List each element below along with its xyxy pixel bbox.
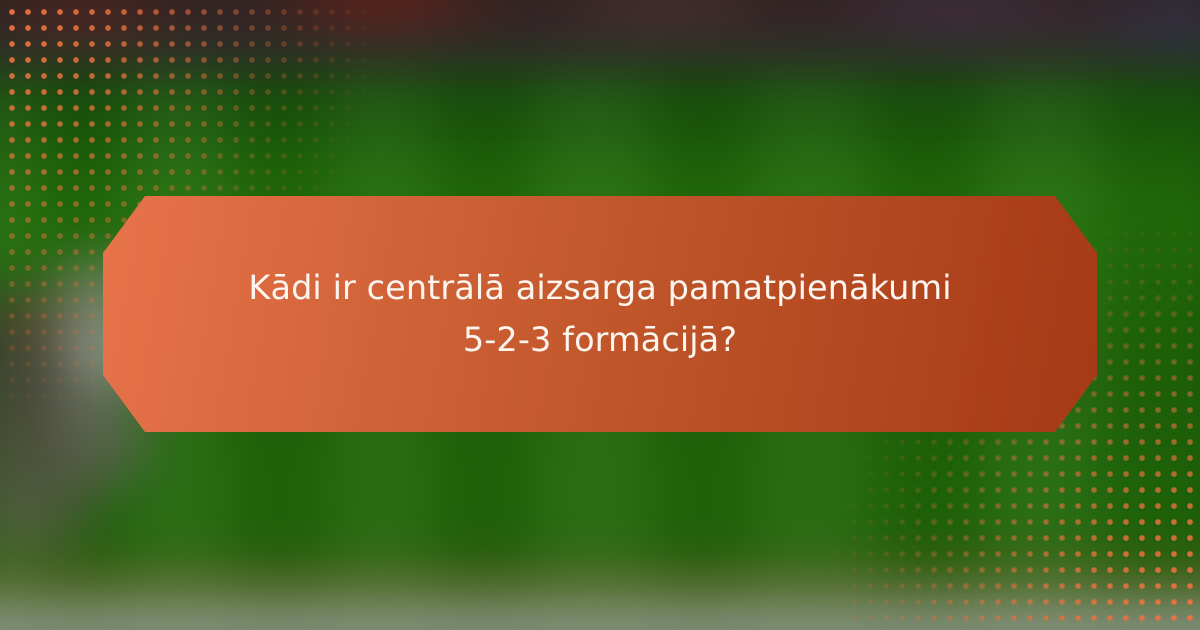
poster-canvas: Kādi ir centrālā aizsarga pamatpienākumi… — [0, 0, 1200, 630]
question-text: Kādi ir centrālā aizsarga pamatpienākumi… — [188, 262, 1011, 366]
question-line-2: 5-2-3 formācijā? — [463, 320, 737, 359]
question-banner: Kādi ir centrālā aizsarga pamatpienākumi… — [103, 196, 1097, 432]
question-line-1: Kādi ir centrālā aizsarga pamatpienākumi — [248, 268, 951, 307]
